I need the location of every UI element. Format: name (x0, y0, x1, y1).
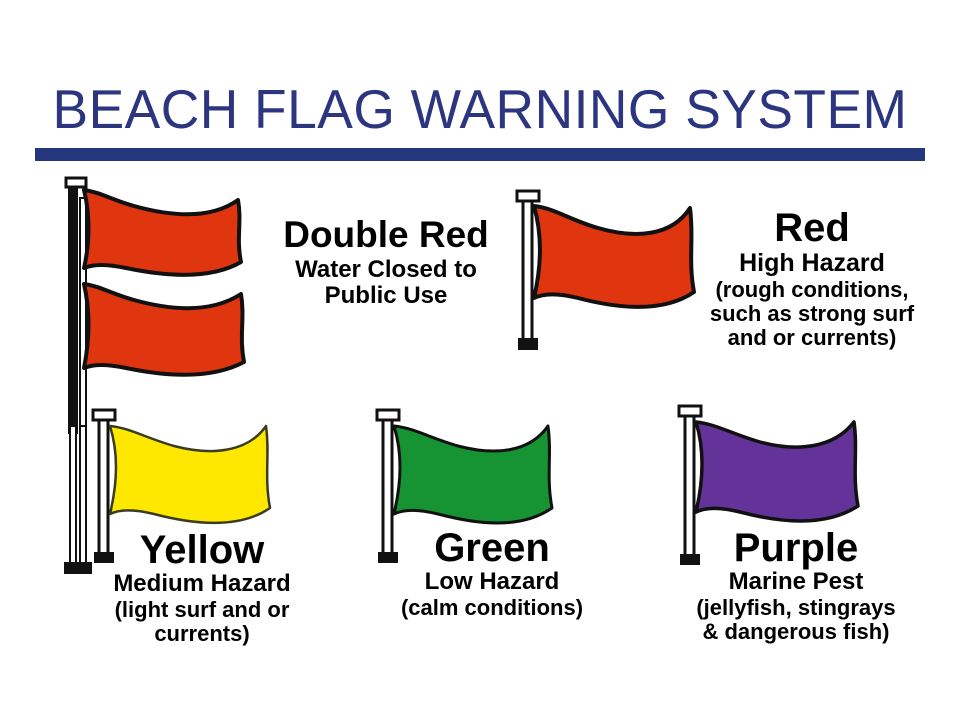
flag-panel (394, 426, 552, 523)
flag-meaning-purple: Marine Pest (656, 569, 936, 595)
flag-meaning-red: High Hazard (676, 250, 948, 277)
flag-panel (696, 422, 858, 521)
double-red-text: Double Red Water Closed to Public Use (248, 216, 524, 309)
flag-meaning-double-red: Water Closed to Public Use (248, 257, 524, 309)
flag-panel-lower (84, 284, 244, 375)
flag-detail-green: (calm conditions) (372, 596, 612, 620)
title-underline-bar (35, 148, 925, 161)
red-text: Red High Hazard (rough conditions, such … (676, 208, 948, 349)
purple-text: Purple Marine Pest (jellyfish, stingrays… (656, 528, 936, 643)
flag-detail-red: (rough conditions, such as strong surf a… (676, 278, 948, 349)
flag-meaning-yellow: Medium Hazard (68, 571, 336, 597)
flag-label-green: Green (372, 528, 612, 568)
infographic-page: BEACH FLAG WARNING SYSTEM (0, 0, 960, 703)
flag-label-yellow: Yellow (68, 530, 336, 570)
flag-label-red: Red (676, 208, 948, 248)
flag-meaning-green: Low Hazard (372, 569, 612, 595)
flag-panel (534, 206, 694, 307)
flag-label-double-red: Double Red (248, 216, 524, 253)
flag-detail-yellow: (light surf and or currents) (68, 598, 336, 646)
yellow-text: Yellow Medium Hazard (light surf and or … (68, 530, 336, 645)
header: BEACH FLAG WARNING SYSTEM (0, 78, 960, 168)
flag-panel-upper (84, 190, 241, 275)
page-title: BEACH FLAG WARNING SYSTEM (14, 78, 945, 140)
flag-label-purple: Purple (656, 528, 936, 568)
flag-panel (110, 426, 270, 523)
green-text: Green Low Hazard (calm conditions) (372, 528, 612, 620)
flag-detail-purple: (jellyfish, stingrays & dangerous fish) (656, 596, 936, 644)
